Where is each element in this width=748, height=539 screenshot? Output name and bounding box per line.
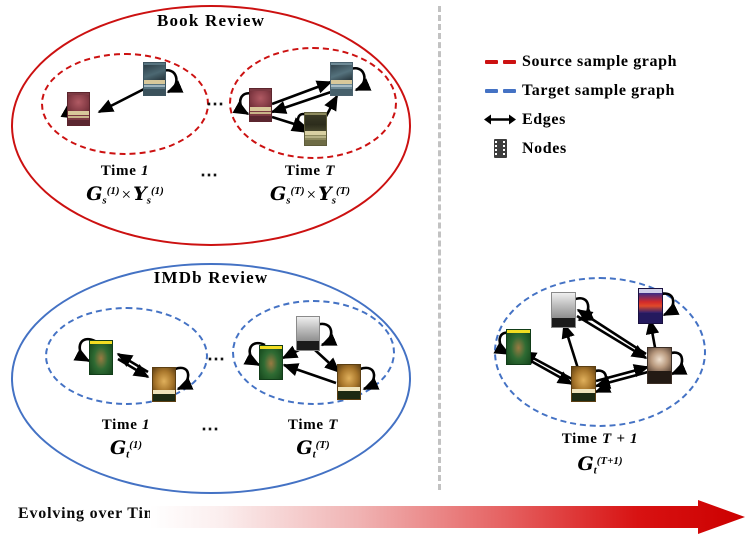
source-time-1-label: Time 1 bbox=[55, 163, 195, 180]
target-time-1-label: Time 1 bbox=[56, 417, 196, 434]
source-edges-svg bbox=[0, 0, 440, 250]
target-math-1-label: Gt(1) bbox=[56, 437, 196, 460]
time-value: T bbox=[325, 163, 335, 179]
future-time-label: Time T + 1 bbox=[520, 431, 680, 448]
graph-symbol: G bbox=[110, 437, 126, 459]
node-thumbnail bbox=[249, 88, 272, 122]
source-math-1-label: Gs(1)×Ys(1) bbox=[55, 183, 195, 206]
node-thumbnail bbox=[571, 366, 596, 402]
source-math-t-label: Gs(T)×Ys(T) bbox=[240, 183, 380, 206]
time-value: 1 bbox=[141, 163, 149, 179]
node-thumbnail bbox=[337, 364, 361, 400]
graph-sup: (1) bbox=[107, 185, 120, 197]
node-thumbnail bbox=[259, 345, 283, 380]
graph-sup: (T) bbox=[316, 439, 330, 451]
time-value: 1 bbox=[142, 417, 150, 433]
time-word: Time bbox=[288, 417, 324, 433]
node-thumbnail bbox=[506, 329, 531, 365]
times-symbol: × bbox=[120, 185, 134, 204]
label-symbol: Y bbox=[318, 183, 332, 205]
source-cluster-gap-ellipsis: ⋯ bbox=[206, 94, 226, 115]
source-time-t-label: Time T bbox=[240, 163, 380, 180]
legend: Source sample graph Target sample graph … bbox=[478, 47, 677, 163]
time-word: Time bbox=[102, 417, 138, 433]
target-cluster-gap-ellipsis: ⋯ bbox=[207, 349, 227, 370]
time-value: T + 1 bbox=[602, 431, 638, 447]
time-value: T bbox=[328, 417, 338, 433]
timeline-arrow bbox=[150, 500, 745, 536]
target-time-t-label: Time T bbox=[243, 417, 383, 434]
times-symbol: × bbox=[305, 185, 319, 204]
node-thumbnail bbox=[152, 367, 176, 402]
label-sup: (T) bbox=[336, 185, 350, 197]
node-thumbnail bbox=[647, 347, 672, 384]
label-sup: (1) bbox=[151, 185, 164, 197]
node-thumbnail bbox=[638, 288, 663, 324]
dashed-line-blue-icon bbox=[478, 89, 522, 93]
film-strip-icon bbox=[478, 139, 522, 158]
time-word: Time bbox=[101, 163, 137, 179]
node-thumbnail bbox=[89, 340, 113, 375]
graph-symbol: G bbox=[270, 183, 286, 205]
panel-divider bbox=[438, 6, 441, 490]
legend-item-label: Nodes bbox=[522, 140, 567, 158]
node-thumbnail bbox=[330, 62, 353, 96]
timeline-label: Evolving over Time bbox=[18, 505, 166, 523]
time-word: Time bbox=[285, 163, 321, 179]
future-math-label: Gt(T+1) bbox=[520, 453, 680, 476]
future-edges-svg bbox=[460, 260, 748, 440]
node-thumbnail bbox=[304, 112, 327, 146]
graph-symbol: G bbox=[86, 183, 102, 205]
legend-item-label: Target sample graph bbox=[522, 82, 675, 100]
node-thumbnail bbox=[551, 292, 576, 328]
time-word: Time bbox=[562, 431, 598, 447]
node-thumbnail bbox=[143, 62, 166, 96]
graph-symbol: G bbox=[296, 437, 312, 459]
label-symbol: Y bbox=[133, 183, 147, 205]
target-math-t-label: Gt(T) bbox=[243, 437, 383, 460]
legend-item-source-sample-graph: Source sample graph bbox=[478, 47, 677, 76]
node-thumbnail bbox=[296, 316, 320, 351]
node-thumbnail bbox=[67, 92, 90, 126]
legend-item-label: Source sample graph bbox=[522, 53, 677, 71]
target-edges-svg bbox=[0, 255, 440, 415]
graph-sup: (1) bbox=[129, 439, 142, 451]
source-label-gap-ellipsis: ⋯ bbox=[200, 165, 220, 186]
legend-item-target-sample-graph: Target sample graph bbox=[478, 76, 677, 105]
figure-canvas: Book Review bbox=[0, 0, 748, 539]
double-arrow-icon bbox=[478, 113, 522, 126]
legend-item-edges: Edges bbox=[478, 105, 677, 134]
legend-item-nodes: Nodes bbox=[478, 134, 677, 163]
graph-symbol: G bbox=[577, 453, 593, 475]
graph-sup: (T+1) bbox=[597, 455, 623, 467]
graph-sup: (T) bbox=[290, 185, 304, 197]
target-label-gap-ellipsis: ⋯ bbox=[201, 419, 221, 440]
legend-item-label: Edges bbox=[522, 111, 566, 129]
dashed-line-red-icon bbox=[478, 60, 522, 64]
